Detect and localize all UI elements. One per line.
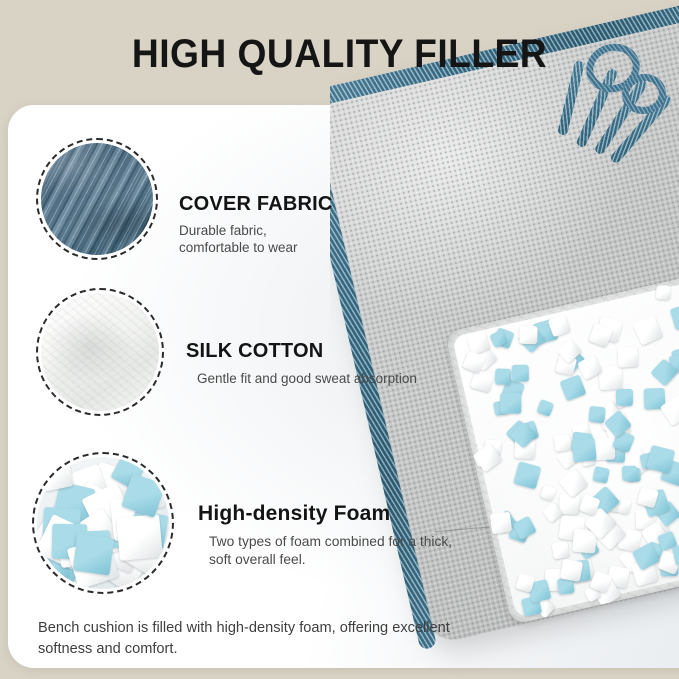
- corduroy-texture: [41, 143, 153, 255]
- feature-text-block: High-density Foam Two types of foam comb…: [174, 452, 452, 568]
- feature-heading: SILK COTTON: [186, 340, 417, 362]
- feature-text-block: SILK COTTON Gentle fit and good sweat ab…: [164, 288, 417, 387]
- feature-body: Durable fabric, comfortable to wear: [179, 222, 333, 257]
- infographic-root: HIGH QUALITY FILLER: [0, 0, 679, 679]
- feature-text-block: COVER FABRIC Durable fabric, comfortable…: [158, 138, 333, 257]
- feature-silk-cotton: SILK COTTON Gentle fit and good sweat ab…: [36, 288, 417, 416]
- feature-heading: High-density Foam: [198, 502, 452, 525]
- feature-body: Gentle fit and good sweat absorption: [197, 370, 417, 387]
- feature-cover-fabric: COVER FABRIC Durable fabric, comfortable…: [36, 138, 333, 260]
- page-title: HIGH QUALITY FILLER: [24, 32, 655, 77]
- cover-fabric-texture: [41, 143, 153, 255]
- cover-fabric-swatch: [36, 138, 158, 260]
- feature-heading: COVER FABRIC: [179, 193, 333, 215]
- feature-body: Two types of foam combined for a thick, …: [209, 533, 452, 568]
- bottom-caption: Bench cushion is filled with high-densit…: [38, 618, 508, 659]
- feature-high-density-foam: High-density Foam Two types of foam comb…: [32, 452, 452, 594]
- high-density-foam-swatch: [32, 452, 174, 594]
- foam-texture: [37, 457, 169, 589]
- foam-cube-texture: [37, 457, 169, 589]
- foam-cube: [72, 534, 113, 575]
- foam-cube: [116, 514, 162, 560]
- foam-cube: [40, 457, 73, 490]
- silk-cotton-texture: [41, 293, 159, 411]
- cotton-texture: [41, 293, 159, 411]
- silk-cotton-swatch: [36, 288, 164, 416]
